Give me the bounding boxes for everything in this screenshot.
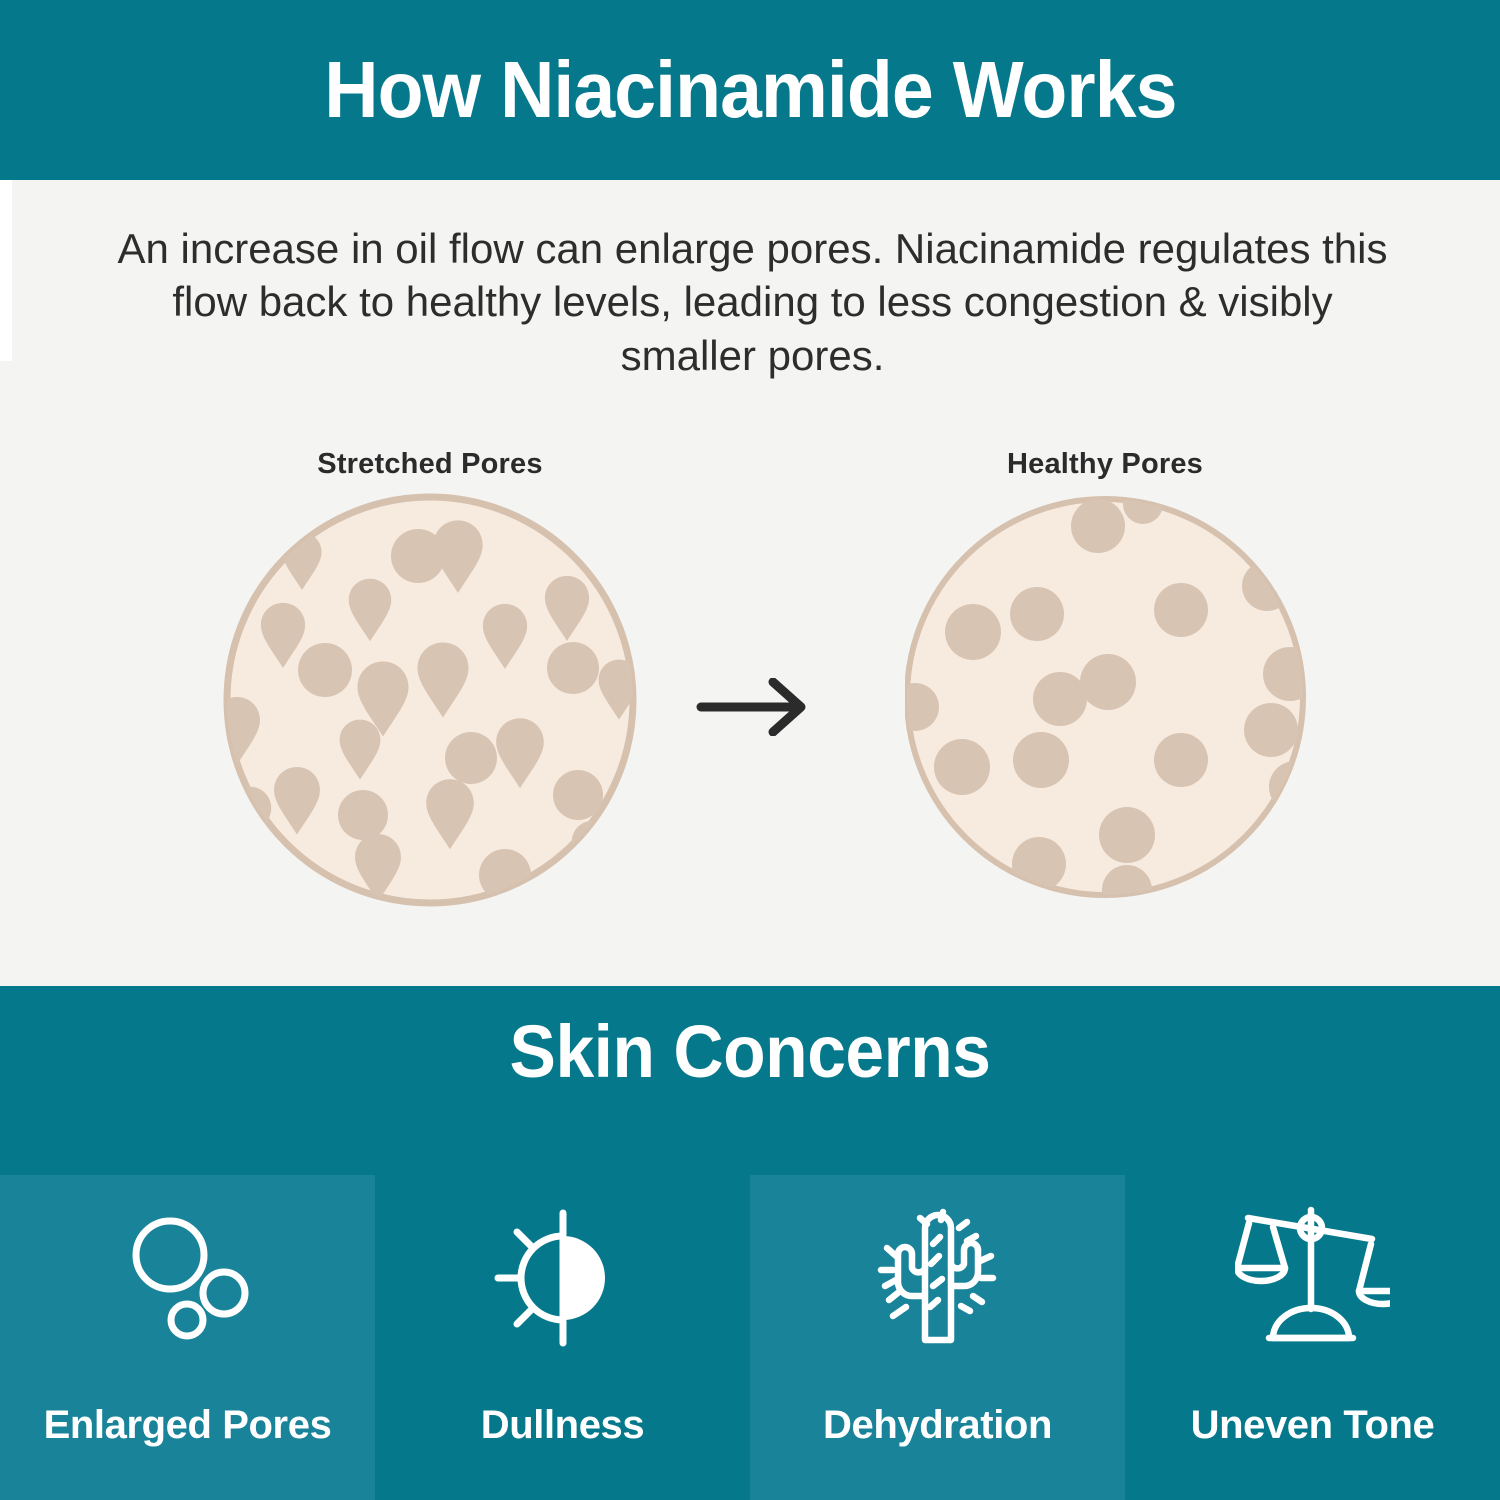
cactus-icon — [750, 1203, 1125, 1353]
concerns-panel-row: Enlarged Pores — [0, 1175, 1500, 1500]
page-title: How Niacinamide Works — [324, 50, 1176, 130]
concern-panel-enlarged-pores[interactable]: Enlarged Pores — [0, 1175, 375, 1500]
header-banner: How Niacinamide Works — [0, 0, 1500, 180]
concern-label: Enlarged Pores — [0, 1403, 375, 1448]
concern-panel-uneven-tone[interactable]: Uneven Tone — [1125, 1175, 1500, 1500]
healthy-pores-label: Healthy Pores — [855, 448, 1355, 481]
pore-comparison-diagram: Stretched Pores Healthy Pores — [0, 430, 1500, 910]
infographic-page: How Niacinamide Works An increase in oil… — [0, 0, 1500, 1500]
arrow-right-icon — [695, 678, 815, 736]
concern-panel-dullness[interactable]: Dullness — [375, 1175, 750, 1500]
stretched-pores-label: Stretched Pores — [180, 448, 680, 481]
concern-panel-dehydration[interactable]: Dehydration — [750, 1175, 1125, 1500]
stretched-pores-svg — [215, 490, 645, 910]
half-sun-icon — [375, 1203, 750, 1353]
stretched-pores-illustration — [215, 490, 645, 915]
concern-label: Dullness — [375, 1403, 750, 1448]
healthy-pores-svg — [905, 490, 1315, 905]
skin-concerns-section: Skin Concerns Enlarged Pores — [0, 986, 1500, 1500]
concern-label: Dehydration — [750, 1403, 1125, 1448]
left-edge-strip — [0, 180, 12, 361]
healthy-pores-illustration — [905, 490, 1315, 910]
balance-scale-icon — [1125, 1203, 1500, 1353]
pores-circles-icon — [0, 1203, 375, 1353]
skin-concerns-title: Skin Concerns — [45, 1011, 1455, 1092]
explanation-section: An increase in oil flow can enlarge pore… — [0, 180, 1500, 986]
transition-arrow — [695, 678, 815, 741]
concern-label: Uneven Tone — [1125, 1403, 1500, 1448]
intro-paragraph: An increase in oil flow can enlarge pore… — [110, 222, 1395, 382]
